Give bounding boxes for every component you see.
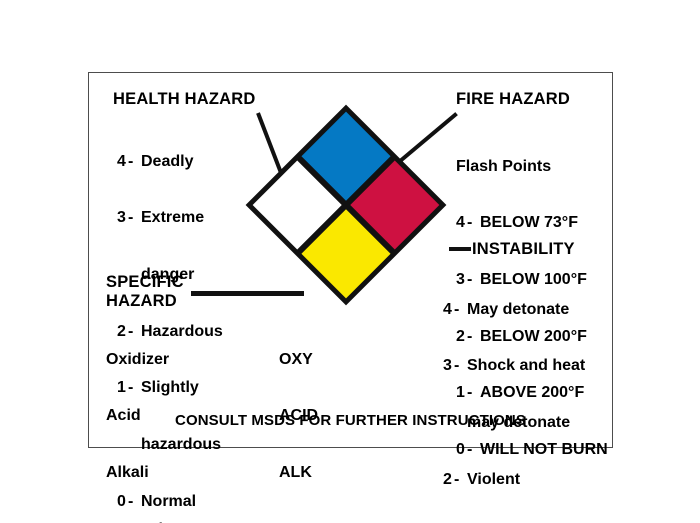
specific-hazard-name: Alkali bbox=[106, 464, 237, 483]
rating-dash: - bbox=[454, 357, 467, 376]
instability-rating-item: 4-May detonate bbox=[443, 301, 585, 320]
specific-hazard-abbreviation: ALK bbox=[279, 464, 332, 483]
specific-hazard-name: Oxidizer bbox=[106, 351, 237, 370]
flash-points-subheading: Flash Points bbox=[456, 158, 608, 177]
rating-text: May detonate bbox=[467, 301, 569, 318]
fire-rating-item: 4-BELOW 73°F bbox=[456, 214, 608, 233]
nfpa-704-sign-panel: HEALTH HAZARD 4-Deadly 3-Extreme danger … bbox=[88, 72, 613, 448]
health-hazard-heading: HEALTH HAZARD bbox=[113, 90, 256, 109]
instability-rating-item: 3-Shock and heat bbox=[443, 357, 585, 376]
specific-hazard-heading: SPECIFIC HAZARD bbox=[106, 273, 184, 312]
instability-rating-list: 4-May detonate 3-Shock and heat may deto… bbox=[443, 263, 585, 523]
health-rating-item: 4-Deadly bbox=[117, 153, 223, 172]
rating-number: 4 bbox=[456, 214, 467, 233]
instability-rating-item: 2-Violent bbox=[443, 471, 585, 490]
specific-hazard-heading-line2: HAZARD bbox=[106, 292, 177, 310]
footer-instruction-text: CONSULT MSDS FOR FURTHER INSTRUCTIONS bbox=[89, 412, 612, 429]
rating-number: 3 bbox=[443, 357, 454, 376]
rating-dash: - bbox=[128, 209, 141, 228]
rating-number: 3 bbox=[117, 209, 128, 228]
rating-text: BELOW 73°F bbox=[480, 214, 578, 231]
rating-number: 2 bbox=[443, 471, 454, 490]
nfpa-704-diamond bbox=[246, 105, 447, 306]
instability-leader-line bbox=[449, 247, 471, 251]
rating-number: 4 bbox=[117, 153, 128, 172]
rating-text: Extreme bbox=[141, 209, 204, 226]
rating-text: Violent bbox=[467, 471, 520, 488]
rating-dash: - bbox=[467, 214, 480, 233]
specific-hazard-leader-line bbox=[191, 291, 304, 296]
rating-text: Deadly bbox=[141, 153, 193, 170]
rating-dash: - bbox=[454, 471, 467, 490]
rating-text: Shock and heat bbox=[467, 357, 585, 374]
rating-number: 4 bbox=[443, 301, 454, 320]
nfpa-hazard-sign-screenshot: HEALTH HAZARD 4-Deadly 3-Extreme danger … bbox=[0, 0, 700, 523]
health-rating-item: 3-Extreme bbox=[117, 209, 223, 228]
rating-dash: - bbox=[128, 153, 141, 172]
instability-heading: INSTABILITY bbox=[472, 240, 575, 259]
rating-dash: - bbox=[454, 301, 467, 320]
specific-hazard-heading-line1: SPECIFIC bbox=[106, 273, 184, 291]
specific-hazard-abbreviation: OXY bbox=[279, 351, 332, 370]
fire-hazard-heading: FIRE HAZARD bbox=[456, 90, 570, 109]
